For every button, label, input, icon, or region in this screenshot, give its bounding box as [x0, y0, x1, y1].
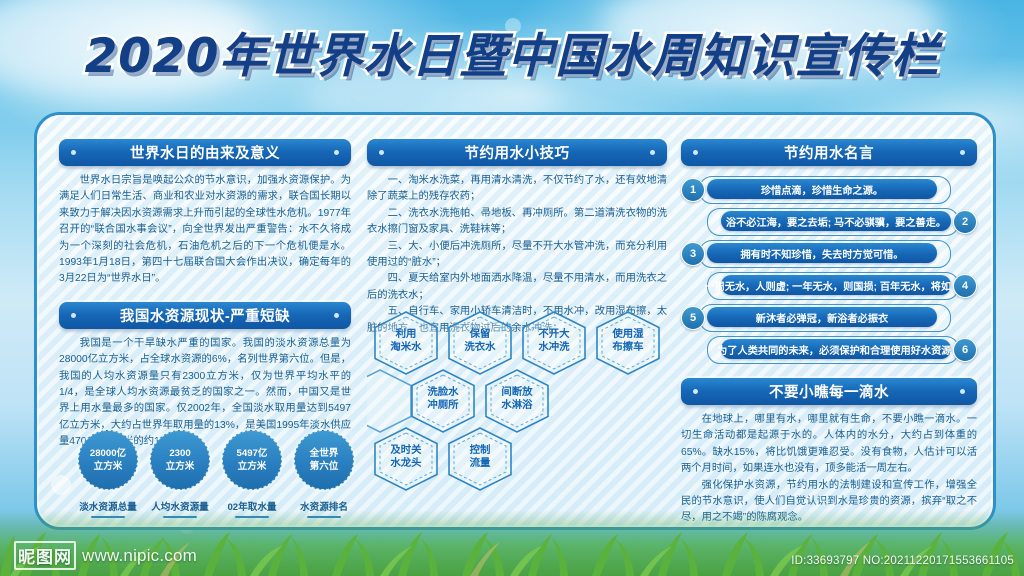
section-header-quotes: 节约用水名言 [681, 139, 977, 166]
hex-line2: 洗衣水 [464, 341, 495, 354]
bubble-decoration [51, 475, 71, 495]
quote-number-badge: 5 [681, 306, 705, 330]
section-header-drop-label: 不要小瞧每一滴水 [769, 381, 889, 402]
hex-line2: 水淋浴 [501, 399, 532, 412]
poster-title-text: 2020年世界水日暨中国水周知识宣传栏 [85, 26, 940, 88]
hex-tip-7-label: 间断放 水淋浴 [484, 369, 550, 429]
stat-circle: 28000亿 立方米 [78, 430, 138, 490]
hex-line1: 控制 [470, 444, 491, 457]
hex-line1: 间断放 [501, 386, 532, 399]
quote-text: 新沐者必弹冠，新浴者必振衣 [756, 310, 888, 325]
quote-row: 为了人类共同的未来，必须保护和合理使用好水资源! 6 [681, 336, 977, 362]
hex-line1: 保留 [470, 328, 491, 341]
stat-value-line2: 立方米 [94, 460, 123, 473]
bullet-dot-icon [334, 150, 339, 155]
hex-line1: 不开大 [538, 328, 569, 341]
quote-row: 珍惜点滴，珍惜生命之源。 1 [681, 176, 977, 202]
water-stats-group: 28000亿 立方米 淡水资源总量 2300 立方米 人均水资源量 [77, 430, 355, 518]
stat-item: 28000亿 立方米 淡水资源总量 [77, 430, 139, 518]
hex-tip-6: 洗脸水 冲厕所 [410, 369, 476, 429]
section-header-quotes-label: 节约用水名言 [784, 142, 874, 163]
stat-value-line1: 2300 [169, 447, 190, 460]
quote-pill: 珍惜点滴，珍惜生命之源。 [707, 179, 937, 199]
hex-line2: 布擦车 [612, 341, 643, 354]
quote-row: 一周无水，人则虚; 一年无水，则国损; 百年无水，将如何? 4 [681, 272, 977, 298]
hex-line1: 洗脸水 [427, 386, 458, 399]
section-header-tips: 节约用水小技巧 [367, 139, 667, 166]
stat-item: 全世界 第六位 水资源排名 [293, 430, 355, 518]
quote-text: 浴不必江海，要之去垢; 马不必骐骥，要之善走。 [726, 214, 946, 229]
watermark: 昵图网 www.nipic.com [14, 541, 197, 570]
quote-row: 浴不必江海，要之去垢; 马不必骐骥，要之善走。 2 [681, 208, 977, 234]
hex-tip-3-label: 不开大 水冲洗 [521, 311, 587, 371]
hex-line2: 水龙头 [390, 457, 421, 470]
bullet-dot-icon [334, 313, 339, 318]
hex-tip-8: 及时关 水龙头 [373, 427, 439, 487]
bullet-dot-icon [960, 389, 965, 394]
hex-tip-3: 不开大 水冲洗 [521, 311, 587, 371]
hex-tip-7: 间断放 水淋浴 [484, 369, 550, 429]
stat-value-line1: 28000亿 [90, 447, 126, 460]
bullet-dot-icon [693, 150, 698, 155]
stat-value-line1: 5497亿 [237, 447, 268, 460]
quote-text: 一周无水，人则虚; 一年无水，则国损; 百年无水，将如何? [704, 278, 967, 293]
tip-item: 四、夏天给室内外地面洒水降温，尽量不用清水，而用洗衣之后的洗衣水； [367, 271, 667, 304]
section-header-origin: 世界水日的由来及意义 [59, 139, 351, 166]
bullet-dot-icon [71, 150, 76, 155]
section-header-status-label: 我国水资源现状-严重短缺 [120, 305, 290, 326]
section-header-tips-label: 节约用水小技巧 [465, 142, 570, 163]
stat-item: 2300 立方米 人均水资源量 [149, 430, 211, 518]
hex-line2: 水冲洗 [538, 341, 569, 354]
section-header-drop: 不要小瞧每一滴水 [681, 378, 977, 405]
stat-value-line2: 立方米 [166, 460, 195, 473]
section-header-status: 我国水资源现状-严重短缺 [59, 302, 351, 329]
quote-number-badge: 2 [953, 210, 977, 234]
quote-number-badge: 1 [681, 178, 705, 202]
quote-row: 拥有时不知珍惜，失去时方觉可惜。 3 [681, 240, 977, 266]
stat-circle: 2300 立方米 [150, 430, 210, 490]
bullet-dot-icon [960, 150, 965, 155]
quote-number-badge: 4 [953, 274, 977, 298]
quote-pill: 一周无水，人则虚; 一年无水，则国损; 百年无水，将如何? [721, 275, 951, 295]
quote-pill: 新沐者必弹冠，新浴者必振衣 [707, 307, 937, 327]
stat-item: 5497亿 立方米 02年取水量 [221, 430, 283, 518]
quote-text: 为了人类共同的未来，必须保护和合理使用好水资源! [717, 342, 955, 357]
quote-row: 新沐者必弹冠，新浴者必振衣 5 [681, 304, 977, 330]
hex-tip-4: 使用湿 布擦车 [595, 311, 661, 371]
quote-pill: 拥有时不知珍惜，失去时方觉可惜。 [707, 243, 937, 263]
stat-value-line2: 第六位 [310, 460, 339, 473]
tip-item: 二、洗衣水洗拖帕、帚地板、再冲厕所。第二道清洗衣物的洗衣水擦门窗及家具、洗鞋袜等… [367, 206, 667, 239]
column-left: 世界水日的由来及意义 世界水日宗旨是唤起公众的节水意识，加强水资源保护。为满足人… [59, 115, 351, 451]
column-middle: 节约用水小技巧 一、淘米水洗菜，再用清水清洗，不仅节约了水，还有效地清除了蔬菜上… [367, 115, 667, 337]
stat-value-line2: 立方米 [238, 460, 267, 473]
hex-tip-9-label: 控制 流量 [447, 427, 513, 487]
content-panel: 世界水日的由来及意义 世界水日宗旨是唤起公众的节水意识，加强水资源保护。为满足人… [34, 112, 996, 530]
hex-tip-1-label: 利用 淘米水 [373, 311, 439, 371]
hex-tip-8-label: 及时关 水龙头 [373, 427, 439, 487]
nipic-url: www.nipic.com [82, 546, 197, 566]
bullet-dot-icon [693, 389, 698, 394]
hex-line2: 流量 [470, 457, 491, 470]
bullet-dot-icon [650, 150, 655, 155]
quote-text: 珍惜点滴，珍惜生命之源。 [761, 182, 883, 197]
poster-canvas: 2020年世界水日暨中国水周知识宣传栏 世界水日的由来及意义 世界水日宗旨是唤起… [0, 0, 1024, 576]
bullet-dot-icon [71, 313, 76, 318]
origin-paragraph-text: 世界水日宗旨是唤起公众的节水意识，加强水资源保护。为满足人们日常生活、商业和农业… [59, 173, 351, 288]
tip-item: 三、大、小便后冲洗厕所，尽量不开大水管冲洗，而充分利用使用过的“脏水”； [367, 239, 667, 272]
quotes-list: 珍惜点滴，珍惜生命之源。 1 浴不必江海，要之去垢; 马不必骐骥，要之善走。 2 [681, 176, 977, 362]
hex-tip-9: 控制 流量 [447, 427, 513, 487]
quote-text: 拥有时不知珍惜，失去时方觉可惜。 [741, 246, 904, 261]
origin-paragraph: 世界水日宗旨是唤起公众的节水意识，加强水资源保护。为满足人们日常生活、商业和农业… [59, 173, 351, 288]
hex-line1: 使用湿 [612, 328, 643, 341]
stat-circle: 全世界 第六位 [294, 430, 354, 490]
stat-circle: 5497亿 立方米 [222, 430, 282, 490]
poster-title: 2020年世界水日暨中国水周知识宣传栏 [0, 26, 1024, 88]
quote-pill: 浴不必江海，要之去垢; 马不必骐骥，要之善走。 [721, 211, 951, 231]
hexagon-grid: 利用 淘米水 保留 洗衣水 不开大 水冲洗 [367, 311, 667, 491]
nipic-logo: 昵图网 [14, 541, 76, 570]
column-right: 节约用水名言 珍惜点滴，珍惜生命之源。 1 浴不必江海，要之去垢 [681, 115, 977, 527]
hex-tip-2: 保留 洗衣水 [447, 311, 513, 371]
stat-value-line1: 全世界 [310, 447, 339, 460]
quote-pill: 为了人类共同的未来，必须保护和合理使用好水资源! [721, 339, 951, 359]
hex-line1: 及时关 [390, 444, 421, 457]
section-header-origin-label: 世界水日的由来及意义 [130, 142, 280, 163]
hex-tip-4-label: 使用湿 布擦车 [595, 311, 661, 371]
hex-line2: 冲厕所 [427, 399, 458, 412]
hex-tip-6-label: 洗脸水 冲厕所 [410, 369, 476, 429]
quote-number-badge: 3 [681, 242, 705, 266]
bullet-dot-icon [379, 150, 384, 155]
hex-line1: 利用 [396, 328, 417, 341]
quote-number-badge: 6 [953, 338, 977, 362]
tip-item: 一、淘米水洗菜，再用清水清洗，不仅节约了水，还有效地清除了蔬菜上的残存农药； [367, 173, 667, 206]
image-id-text: ID:33693797 NO:20211220171553661105 [791, 555, 1014, 567]
drop-paragraph-1: 在地球上，哪里有水，哪里就有生命，不要小瞧一滴水。一切生命活动都是起源于水的。人… [681, 412, 977, 478]
hex-tip-2-label: 保留 洗衣水 [447, 311, 513, 371]
hex-line2: 淘米水 [390, 341, 421, 354]
hex-tip-1: 利用 淘米水 [373, 311, 439, 371]
